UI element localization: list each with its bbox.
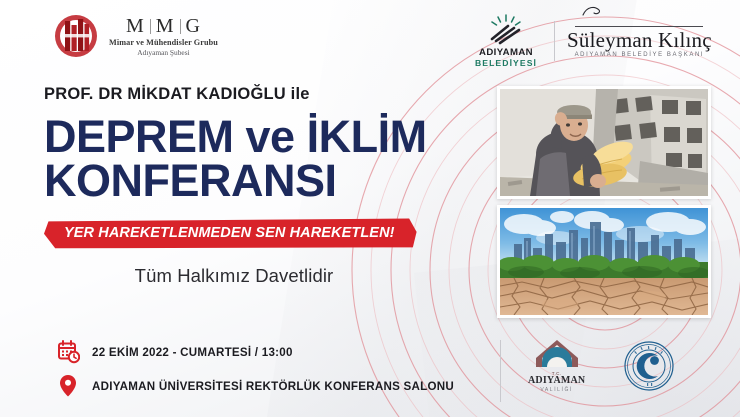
signature-flourish-icon	[581, 5, 607, 17]
title-line-2: KONFERANSI	[44, 159, 474, 204]
mmg-letter-2: M	[156, 16, 175, 37]
map-pin-icon	[58, 374, 80, 398]
slogan-banner: YER HAREKETLENMEDEN SEN HAREKETLEN!	[44, 218, 417, 249]
municipality-sub: BELEDİYESİ	[475, 59, 537, 68]
mmg-letter-divider-2	[180, 19, 181, 34]
page-title: DEPREM ve İKLİM KONFERANSI	[44, 115, 474, 204]
mmg-letter-1: M	[126, 16, 145, 37]
municipality-name: ADIYAMAN	[479, 48, 533, 59]
mmg-wordmark: M M G Mimar ve Mühendisler Grubu Adıyama…	[109, 16, 218, 57]
event-datetime-row: 22 EKİM 2022 - CUMARTESİ / 13:00	[58, 340, 454, 364]
footer-logos: T.C. ADIYAMAN VALİLİĞİ	[528, 338, 675, 393]
mmg-letter-divider-1	[150, 19, 151, 34]
adiyaman-universitesi-seal-icon	[623, 340, 675, 392]
adiyaman-valiligi-arch-logo-icon	[533, 338, 581, 372]
earthquake-damage-photo	[497, 86, 711, 199]
mmg-subtitle-branch: Adıyaman Şubesi	[137, 48, 189, 57]
governorship-sub: VALİLİĞİ	[540, 387, 573, 393]
adiyaman-valiligi-logo: T.C. ADIYAMAN VALİLİĞİ	[528, 338, 585, 393]
event-datetime: 22 EKİM 2022 - CUMARTESİ / 13:00	[92, 346, 293, 359]
mmg-letter-3: G	[186, 16, 201, 37]
calendar-clock-icon	[58, 340, 80, 364]
poster-main-content: PROF. DR MİKDAT KADIOĞLU ile DEPREM ve İ…	[44, 86, 474, 287]
event-location-row: ADIYAMAN ÜNİVERSİTESİ REKTÖRLÜK KONFERAN…	[58, 374, 454, 398]
invitation-text: Tüm Halkımız Davetlidir	[44, 265, 424, 287]
event-location: ADIYAMAN ÜNİVERSİTESİ REKTÖRLÜK KONFERAN…	[92, 380, 454, 393]
governorship-name: ADIYAMAN	[528, 376, 585, 386]
climate-drought-photo	[497, 205, 711, 318]
mayor-signature-block: Süleyman Kılınç ADIYAMAN BELEDİYE BAŞKAN…	[567, 24, 712, 58]
mmg-logo: M M G Mimar ve Mühendisler Grubu Adıyama…	[52, 12, 218, 60]
event-details: 22 EKİM 2022 - CUMARTESİ / 13:00 ADIYAMA…	[58, 340, 454, 398]
title-line-1: DEPREM ve İKLİM	[44, 111, 427, 162]
mayor-rule-top	[575, 26, 703, 27]
poster-header: M M G Mimar ve Mühendisler Grubu Adıyama…	[0, 0, 740, 76]
mmg-letters: M M G	[126, 16, 201, 37]
adiyaman-belediyesi-logo: ADIYAMAN BELEDİYESİ	[470, 14, 542, 68]
header-divider	[554, 21, 555, 61]
mmg-building-arc-logo-icon	[52, 12, 100, 60]
mayor-title: ADIYAMAN BELEDİYE BAŞKANI	[575, 52, 705, 58]
speaker-line: PROF. DR MİKDAT KADIOĞLU ile	[44, 86, 474, 103]
mmg-subtitle-org: Mimar ve Mühendisler Grubu	[109, 38, 218, 47]
mayor-signature: Süleyman Kılınç	[567, 29, 712, 52]
footer-divider	[500, 340, 501, 402]
conference-poster: M M G Mimar ve Mühendisler Grubu Adıyama…	[0, 0, 740, 417]
adiyaman-belediyesi-rays-logo-icon	[483, 14, 529, 46]
municipality-block: ADIYAMAN BELEDİYESİ Süleyman Kılınç ADIY…	[470, 14, 712, 68]
